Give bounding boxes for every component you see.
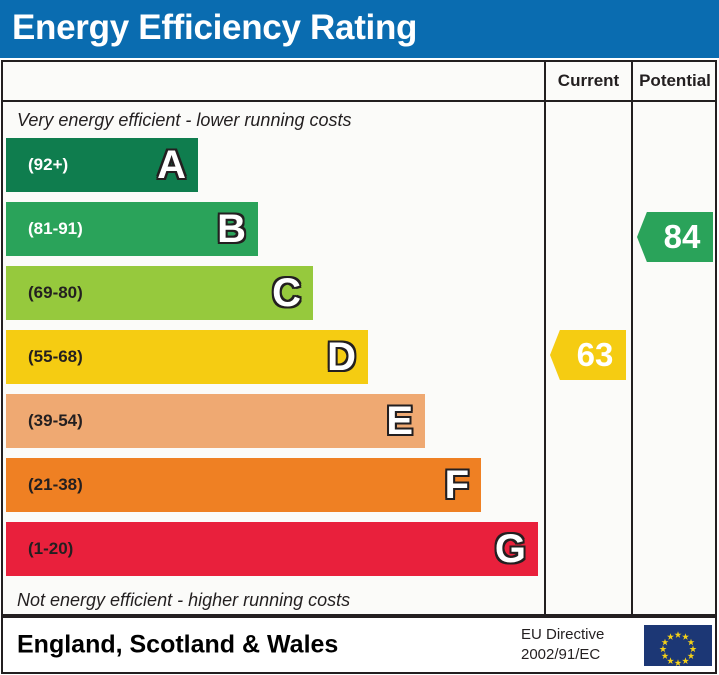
band-letter-f: F	[445, 465, 469, 505]
band-range-b: (81-91)	[28, 219, 83, 239]
band-range-c: (69-80)	[28, 283, 83, 303]
band-bar-c: (69-80) C	[6, 266, 313, 320]
band-letter-b: B	[217, 209, 246, 249]
band-bar-g: (1-20) G	[6, 522, 538, 576]
potential-column-divider	[631, 62, 633, 614]
current-column-divider	[544, 62, 546, 614]
band-bar-a: (92+) A	[6, 138, 198, 192]
band-bar-e: (39-54) E	[6, 394, 425, 448]
caption-very-efficient: Very energy efficient - lower running co…	[17, 110, 352, 131]
chart-footer: England, Scotland & Wales EU Directive 2…	[1, 616, 717, 674]
caption-not-efficient: Not energy efficient - higher running co…	[17, 590, 350, 611]
eu-flag-icon	[644, 625, 712, 666]
column-header-current: Current	[546, 62, 631, 100]
band-bar-f: (21-38) F	[6, 458, 481, 512]
band-bar-list: (92+) A (81-91) B (69-80) C (55-68) D (3…	[6, 138, 542, 586]
band-range-g: (1-20)	[28, 539, 73, 559]
band-range-d: (55-68)	[28, 347, 83, 367]
rating-table: Current Potential Very energy efficient …	[1, 60, 717, 616]
page-title: Energy Efficiency Rating	[12, 6, 417, 50]
current-rating-value: 63	[577, 336, 614, 374]
band-range-f: (21-38)	[28, 475, 83, 495]
band-letter-g: G	[495, 529, 526, 569]
band-letter-a: A	[157, 145, 186, 185]
eu-directive-line1: EU Directive	[521, 625, 604, 645]
band-letter-e: E	[386, 401, 413, 441]
eu-directive-text: EU Directive 2002/91/EC	[521, 625, 604, 665]
eu-directive-line2: 2002/91/EC	[521, 645, 604, 665]
header-row-divider	[3, 100, 715, 102]
column-header-potential: Potential	[633, 62, 717, 100]
current-rating-marker: 63	[550, 330, 626, 380]
potential-rating-marker: 84	[637, 212, 713, 262]
band-bar-d: (55-68) D	[6, 330, 368, 384]
band-letter-d: D	[327, 337, 356, 377]
band-bar-b: (81-91) B	[6, 202, 258, 256]
band-range-e: (39-54)	[28, 411, 83, 431]
potential-rating-value: 84	[664, 218, 701, 256]
footer-region-label: England, Scotland & Wales	[17, 631, 338, 660]
band-letter-c: C	[272, 273, 301, 313]
chart-title-bar: Energy Efficiency Rating	[0, 0, 719, 58]
band-range-a: (92+)	[28, 155, 68, 175]
energy-efficiency-rating-chart: Energy Efficiency Rating Current Potenti…	[0, 0, 719, 675]
